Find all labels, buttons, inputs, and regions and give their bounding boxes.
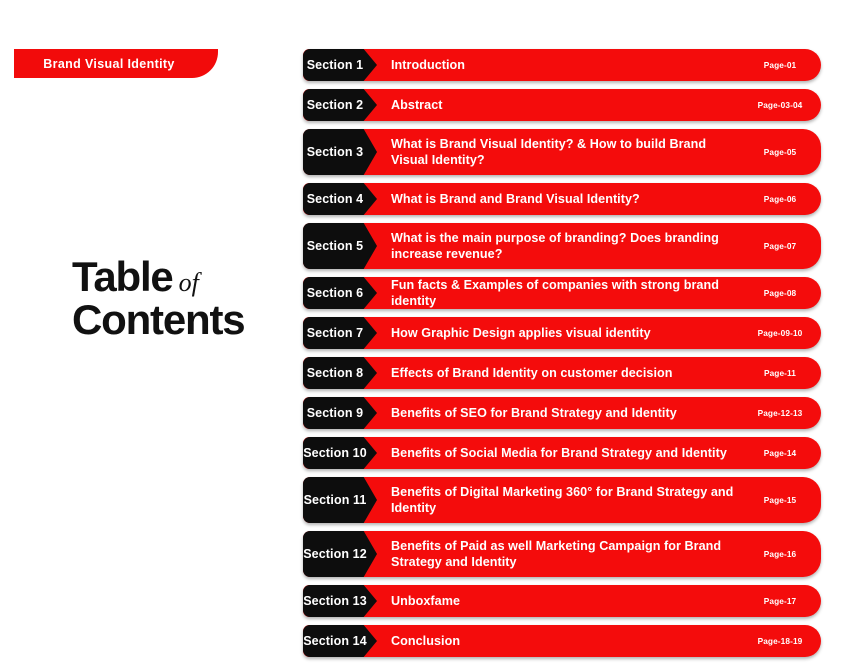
toc-row[interactable]: Section 10Benefits of Social Media for B… bbox=[303, 437, 821, 469]
toc-row[interactable]: Section 14ConclusionPage-18-19 bbox=[303, 625, 821, 657]
section-page-number: Page-09-10 bbox=[749, 317, 821, 349]
section-page-number: Page-16 bbox=[749, 531, 821, 577]
section-title: What is Brand and Brand Visual Identity? bbox=[377, 183, 749, 215]
section-title: Effects of Brand Identity on customer de… bbox=[377, 357, 749, 389]
section-page-number: Page-12-13 bbox=[749, 397, 821, 429]
toc-row[interactable]: Section 8Effects of Brand Identity on cu… bbox=[303, 357, 821, 389]
page-title-line-2: Contents bbox=[72, 299, 282, 342]
section-number-tag: Section 2 bbox=[303, 89, 377, 121]
section-title: Introduction bbox=[377, 49, 749, 81]
section-page-number: Page-07 bbox=[749, 223, 821, 269]
section-title: What is Brand Visual Identity? & How to … bbox=[377, 129, 749, 175]
toc-row[interactable]: Section 13UnboxfamePage-17 bbox=[303, 585, 821, 617]
section-title: Abstract bbox=[377, 89, 749, 121]
section-number-tag: Section 4 bbox=[303, 183, 377, 215]
page-title-contents-word: Contents bbox=[72, 296, 244, 343]
section-number-tag: Section 12 bbox=[303, 531, 377, 577]
section-number-tag: Section 8 bbox=[303, 357, 377, 389]
toc-row[interactable]: Section 9Benefits of SEO for Brand Strat… bbox=[303, 397, 821, 429]
toc-row[interactable]: Section 5What is the main purpose of bra… bbox=[303, 223, 821, 269]
toc-row[interactable]: Section 2AbstractPage-03-04 bbox=[303, 89, 821, 121]
section-number-tag: Section 10 bbox=[303, 437, 377, 469]
section-page-number: Page-03-04 bbox=[749, 89, 821, 121]
section-page-number: Page-17 bbox=[749, 585, 821, 617]
section-title: How Graphic Design applies visual identi… bbox=[377, 317, 749, 349]
section-title: Benefits of Social Media for Brand Strat… bbox=[377, 437, 749, 469]
page-title: Tableof Contents bbox=[72, 256, 282, 342]
section-page-number: Page-11 bbox=[749, 357, 821, 389]
table-of-contents-list: Section 1IntroductionPage-01Section 2Abs… bbox=[303, 49, 821, 665]
section-title: Benefits of Paid as well Marketing Campa… bbox=[377, 531, 749, 577]
section-page-number: Page-01 bbox=[749, 49, 821, 81]
section-title: Fun facts & Examples of companies with s… bbox=[377, 277, 749, 309]
page-title-table-word: Table bbox=[72, 253, 173, 300]
section-title: Benefits of Digital Marketing 360° for B… bbox=[377, 477, 749, 523]
section-number-tag: Section 3 bbox=[303, 129, 377, 175]
toc-row[interactable]: Section 4What is Brand and Brand Visual … bbox=[303, 183, 821, 215]
toc-row[interactable]: Section 3What is Brand Visual Identity? … bbox=[303, 129, 821, 175]
toc-row[interactable]: Section 12Benefits of Paid as well Marke… bbox=[303, 531, 821, 577]
section-number-tag: Section 14 bbox=[303, 625, 377, 657]
section-number-tag: Section 5 bbox=[303, 223, 377, 269]
section-page-number: Page-08 bbox=[749, 277, 821, 309]
toc-row[interactable]: Section 7How Graphic Design applies visu… bbox=[303, 317, 821, 349]
page-title-of-word: of bbox=[179, 268, 199, 297]
toc-row[interactable]: Section 11Benefits of Digital Marketing … bbox=[303, 477, 821, 523]
toc-row[interactable]: Section 6Fun facts & Examples of compani… bbox=[303, 277, 821, 309]
section-page-number: Page-05 bbox=[749, 129, 821, 175]
section-title: What is the main purpose of branding? Do… bbox=[377, 223, 749, 269]
section-number-tag: Section 13 bbox=[303, 585, 377, 617]
section-page-number: Page-14 bbox=[749, 437, 821, 469]
left-column: Brand Visual Identity Tableof Contents bbox=[0, 0, 290, 596]
section-number-tag: Section 1 bbox=[303, 49, 377, 81]
section-number-tag: Section 11 bbox=[303, 477, 377, 523]
section-page-number: Page-15 bbox=[749, 477, 821, 523]
section-title: Conclusion bbox=[377, 625, 749, 657]
section-page-number: Page-18-19 bbox=[749, 625, 821, 657]
section-title: Unboxfame bbox=[377, 585, 749, 617]
section-page-number: Page-06 bbox=[749, 183, 821, 215]
toc-row[interactable]: Section 1IntroductionPage-01 bbox=[303, 49, 821, 81]
brand-visual-identity-banner: Brand Visual Identity bbox=[14, 49, 218, 78]
page-title-line-1: Tableof bbox=[72, 256, 282, 299]
brand-banner-label: Brand Visual Identity bbox=[43, 57, 174, 71]
section-title: Benefits of SEO for Brand Strategy and I… bbox=[377, 397, 749, 429]
section-number-tag: Section 7 bbox=[303, 317, 377, 349]
section-number-tag: Section 6 bbox=[303, 277, 377, 309]
section-number-tag: Section 9 bbox=[303, 397, 377, 429]
